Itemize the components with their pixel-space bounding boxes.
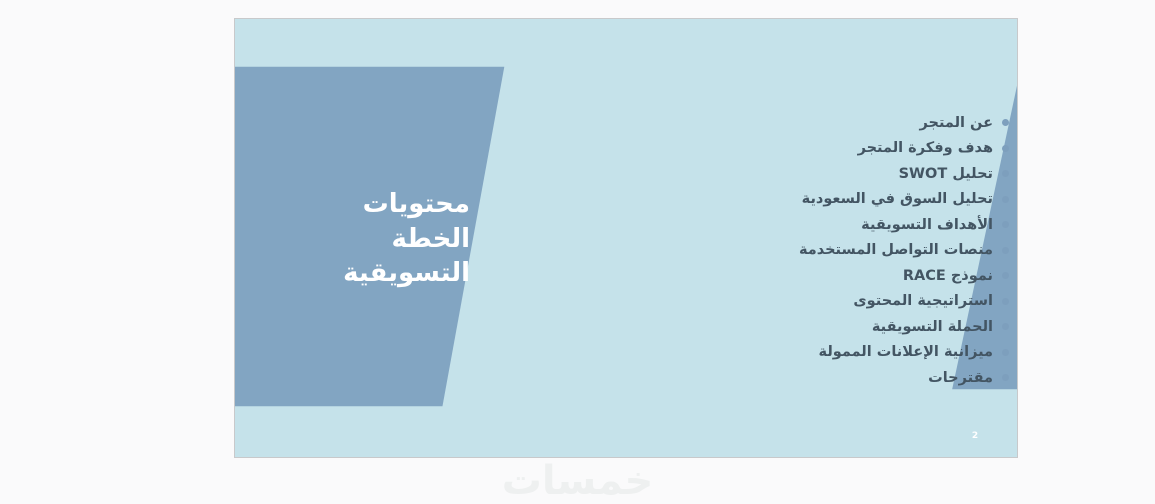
bullet-dot-icon	[1002, 145, 1009, 152]
list-item-label: عن المتجر	[919, 115, 993, 131]
watermark: خمسات	[0, 458, 1155, 504]
list-item[interactable]: عن المتجر	[799, 110, 1009, 136]
list-item[interactable]: ميزانية الإعلانات الممولة	[799, 340, 1009, 366]
list-item-label: هدف وفكرة المتجر	[858, 140, 993, 156]
list-item-label: ميزانية الإعلانات الممولة	[819, 344, 993, 360]
bullet-dot-icon	[1002, 298, 1009, 305]
watermark-text: خمسات	[502, 461, 654, 501]
list-item[interactable]: استراتيجية المحتوى	[799, 289, 1009, 315]
presentation-slide: محتويات الخطة التسويقية عن المتجر هدف وف…	[234, 18, 1018, 458]
bullet-dot-icon	[1002, 349, 1009, 356]
list-item[interactable]: هدف وفكرة المتجر	[799, 136, 1009, 162]
list-item-label: تحليل SWOT	[899, 166, 993, 182]
list-item-label: الأهداف التسويقية	[861, 217, 993, 233]
page-title: محتويات الخطة التسويقية	[245, 187, 470, 291]
list-item-label: منصات التواصل المستخدمة	[799, 242, 993, 258]
list-item-label: تحليل السوق في السعودية	[802, 191, 993, 207]
list-item[interactable]: الأهداف التسويقية	[799, 212, 1009, 238]
bullet-dot-icon	[1002, 170, 1009, 177]
list-item[interactable]: الحملة التسويقية	[799, 314, 1009, 340]
page-number: 2	[965, 431, 985, 441]
list-item[interactable]: تحليل SWOT	[799, 161, 1009, 187]
bullet-dot-icon	[1002, 196, 1009, 203]
list-item[interactable]: تحليل السوق في السعودية	[799, 187, 1009, 213]
bullet-dot-icon	[1002, 272, 1009, 279]
list-item-label: الحملة التسويقية	[872, 319, 993, 335]
list-item-label: مقترحات	[928, 370, 993, 386]
bullet-dot-icon	[1002, 221, 1009, 228]
list-item-label: نموذج RACE	[903, 268, 993, 284]
table-of-contents-list: عن المتجر هدف وفكرة المتجر تحليل SWOT تح…	[799, 110, 1009, 391]
list-item[interactable]: مقترحات	[799, 365, 1009, 391]
list-item[interactable]: نموذج RACE	[799, 263, 1009, 289]
bullet-dot-icon	[1002, 323, 1009, 330]
bullet-dot-icon	[1002, 119, 1009, 126]
list-item[interactable]: منصات التواصل المستخدمة	[799, 238, 1009, 264]
list-item-label: استراتيجية المحتوى	[853, 293, 993, 309]
bullet-dot-icon	[1002, 374, 1009, 381]
bullet-dot-icon	[1002, 247, 1009, 254]
